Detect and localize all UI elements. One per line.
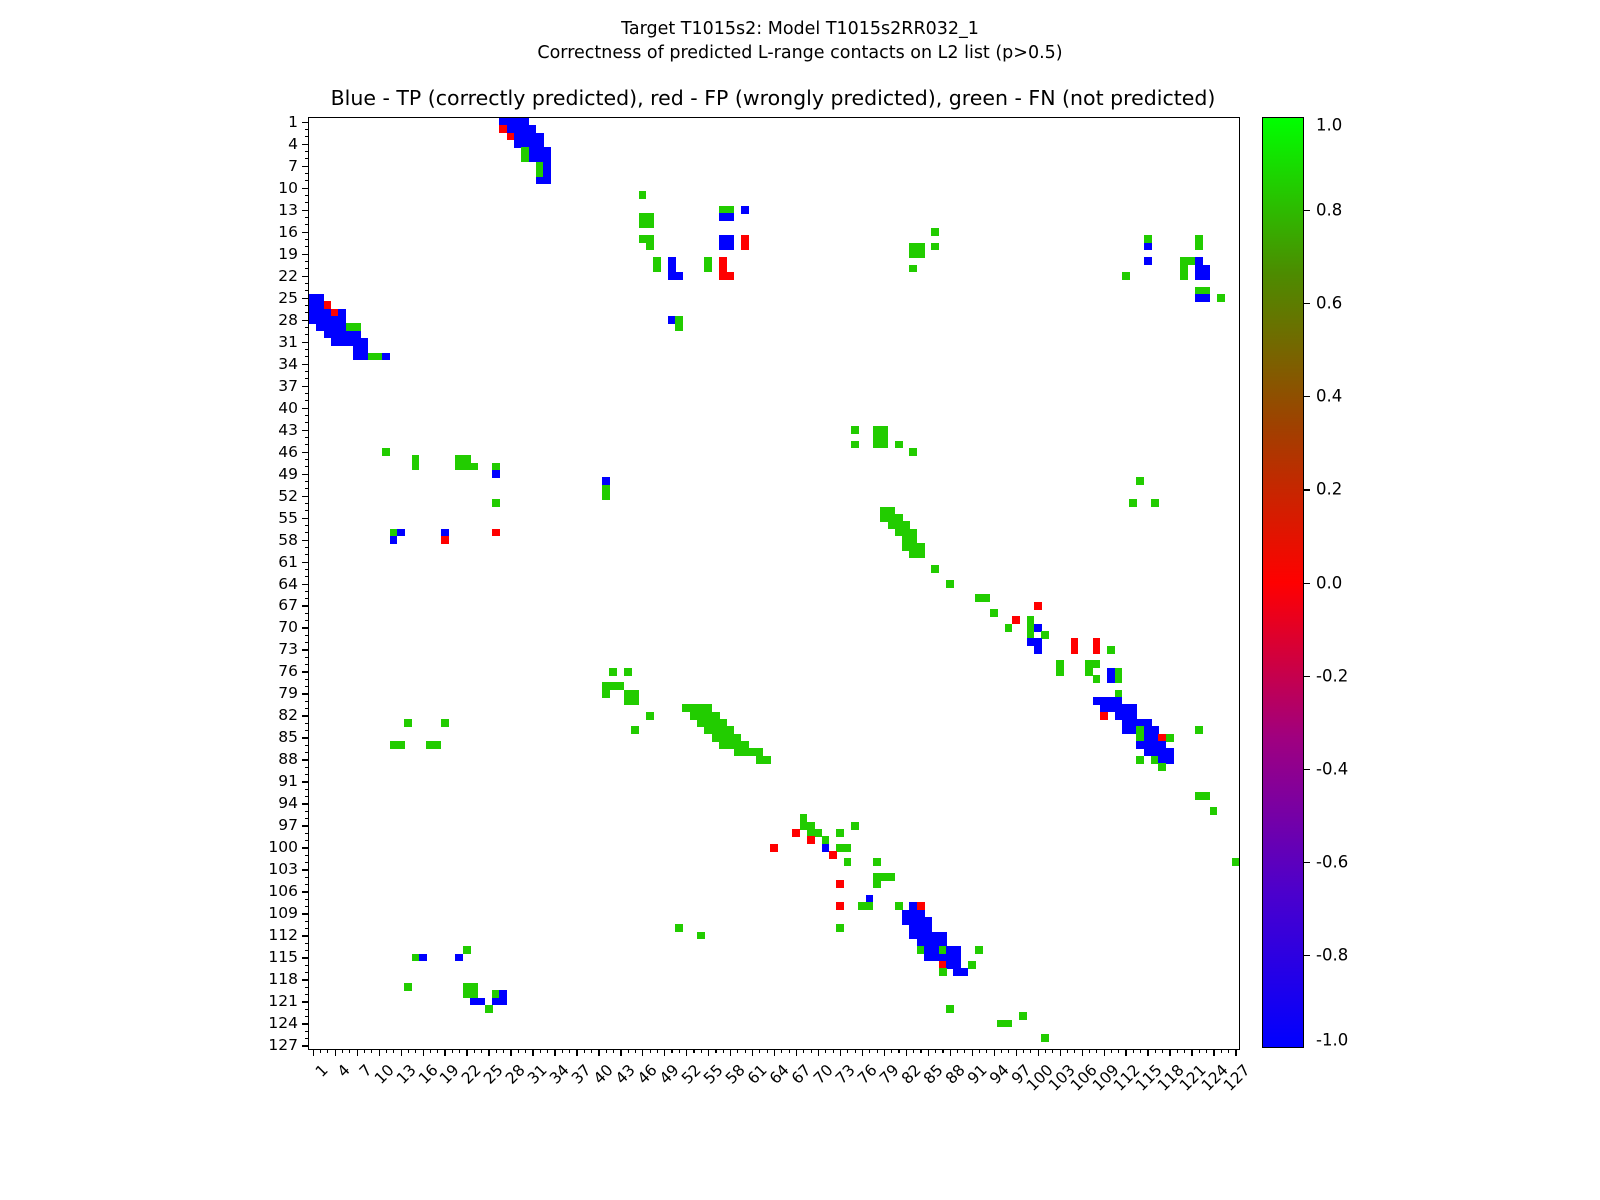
x-tick: [693, 1049, 694, 1053]
y-tick: [305, 899, 309, 900]
contact-cell-fn: [851, 822, 859, 830]
y-tick: [305, 840, 309, 841]
y-tick: [305, 547, 309, 548]
y-tick: [305, 767, 309, 768]
y-tick: [305, 510, 309, 511]
y-tick-label: 31: [278, 333, 298, 351]
y-tick-label: 10: [278, 179, 298, 197]
contact-map-figure: Target T1015s2: Model T1015s2RR032_1 Cor…: [0, 0, 1600, 1200]
y-tick-label: 118: [268, 970, 298, 988]
contact-cell-tp: [1034, 646, 1042, 654]
y-tick-label: 37: [278, 377, 298, 395]
y-tick-label: 46: [278, 443, 298, 461]
contact-cell-fp: [492, 529, 500, 537]
x-tick: [1074, 1049, 1075, 1053]
contact-cell-fn: [1041, 631, 1049, 639]
x-tick: [752, 1049, 753, 1056]
y-tick: [302, 430, 309, 431]
contact-cell-fn: [866, 902, 874, 910]
y-tick: [302, 166, 309, 167]
y-tick: [302, 715, 309, 716]
x-tick: [650, 1049, 651, 1053]
colorbar-tick: [1304, 210, 1310, 211]
x-tick: [1140, 1049, 1141, 1053]
contact-cell-fn: [463, 946, 471, 954]
y-tick-label: 88: [278, 750, 298, 768]
y-tick: [305, 488, 309, 489]
contact-cell-fp: [1093, 646, 1101, 654]
y-tick: [305, 789, 309, 790]
y-tick-label: 76: [278, 662, 298, 680]
x-tick: [730, 1049, 731, 1056]
x-tick-label: 7: [356, 1061, 376, 1081]
contact-cell-tp: [1144, 257, 1152, 265]
contact-cell-fn: [851, 441, 859, 449]
contact-cell-fn: [844, 844, 852, 852]
colorbar-tick-label: 0.8: [1316, 201, 1342, 220]
x-tick: [957, 1049, 958, 1053]
contact-cell-fn: [646, 221, 654, 229]
y-tick: [305, 862, 309, 863]
y-tick: [305, 906, 309, 907]
contact-cell-fn: [917, 551, 925, 559]
y-tick: [305, 943, 309, 944]
x-tick: [950, 1049, 951, 1056]
x-tick: [1155, 1049, 1156, 1053]
y-tick: [302, 298, 309, 299]
y-tick: [302, 605, 309, 606]
contact-cell-tp: [741, 206, 749, 214]
y-tick: [305, 246, 309, 247]
contact-cell-fn: [646, 712, 654, 720]
x-tick: [386, 1049, 387, 1053]
y-tick: [302, 1045, 309, 1046]
x-tick: [444, 1049, 445, 1056]
y-tick: [302, 891, 309, 892]
y-tick: [305, 1038, 309, 1039]
y-tick: [305, 261, 309, 262]
y-tick: [305, 158, 309, 159]
y-tick: [302, 671, 309, 672]
contact-cell-fn: [1093, 660, 1101, 668]
y-tick-label: 85: [278, 728, 298, 746]
y-tick: [302, 759, 309, 760]
contact-cell-fn: [873, 880, 881, 888]
y-tick: [305, 195, 309, 196]
figure-title: Target T1015s2: Model T1015s2RR032_1 Cor…: [0, 18, 1600, 65]
x-tick: [503, 1049, 504, 1053]
x-tick: [569, 1049, 570, 1053]
y-tick: [302, 320, 309, 321]
contact-cell-tp: [1202, 272, 1210, 280]
x-tick: [496, 1049, 497, 1053]
x-tick: [488, 1049, 489, 1056]
contact-cell-fp: [441, 536, 449, 544]
y-tick: [302, 144, 309, 145]
y-tick: [305, 855, 309, 856]
x-tick: [979, 1049, 980, 1053]
contact-cell-fn: [888, 873, 896, 881]
contact-cell-fp: [1034, 602, 1042, 610]
y-tick: [302, 649, 309, 650]
y-tick: [302, 210, 309, 211]
x-tick: [898, 1049, 899, 1053]
x-tick: [1118, 1049, 1119, 1053]
colorbar-tick: [1304, 955, 1310, 956]
x-tick: [942, 1049, 943, 1053]
y-tick-label: 109: [268, 904, 298, 922]
x-tick: [935, 1049, 936, 1053]
y-tick: [305, 1009, 309, 1010]
x-tick: [986, 1049, 987, 1053]
x-tick: [789, 1049, 790, 1053]
contact-cell-fn: [1195, 243, 1203, 251]
x-tick: [972, 1049, 973, 1056]
y-tick-label: 121: [268, 992, 298, 1010]
x-tick: [327, 1049, 328, 1053]
contact-cell-tp: [382, 353, 390, 361]
y-tick-label: 1: [288, 113, 298, 131]
x-tick: [540, 1049, 541, 1053]
x-tick: [371, 1049, 372, 1053]
y-tick: [305, 173, 309, 174]
contact-cell-tp: [1166, 756, 1174, 764]
y-tick: [302, 935, 309, 936]
y-tick: [302, 518, 309, 519]
colorbar-tick-label: -0.4: [1316, 759, 1348, 778]
y-tick: [302, 342, 309, 343]
contact-cell-fn: [492, 499, 500, 507]
y-tick: [305, 136, 309, 137]
x-tick: [481, 1049, 482, 1053]
colorbar-tick-label: 0.0: [1316, 573, 1342, 592]
y-tick: [302, 364, 309, 365]
contact-cell-fp: [829, 851, 837, 859]
y-tick: [302, 562, 309, 563]
x-tick: [818, 1049, 819, 1056]
colorbar-tick: [1304, 489, 1310, 490]
x-tick: [840, 1049, 841, 1056]
contact-cell-tp: [543, 177, 551, 185]
y-tick-label: 115: [268, 948, 298, 966]
contact-cell-fn: [397, 741, 405, 749]
y-tick-label: 16: [278, 223, 298, 241]
contact-cell-fn: [382, 448, 390, 456]
contact-cell-fp: [807, 836, 815, 844]
contact-cell-tp: [726, 243, 734, 251]
y-tick-label: 127: [268, 1036, 298, 1054]
y-tick-label: 124: [268, 1014, 298, 1032]
contact-cell-fn: [609, 668, 617, 676]
x-tick: [811, 1049, 812, 1053]
y-tick-label: 22: [278, 267, 298, 285]
x-tick: [1111, 1049, 1112, 1053]
colorbar-tick: [1304, 769, 1310, 770]
y-tick: [305, 576, 309, 577]
x-tick: [1067, 1049, 1068, 1053]
x-tick: [1008, 1049, 1009, 1053]
x-tick: [1052, 1049, 1053, 1053]
contact-cell-fn: [1232, 858, 1239, 866]
contact-cell-fn: [1136, 477, 1144, 485]
y-tick-label: 43: [278, 421, 298, 439]
contact-cell-fn: [1019, 1012, 1027, 1020]
y-tick: [305, 591, 309, 592]
y-tick: [302, 496, 309, 497]
y-tick-label: 55: [278, 509, 298, 527]
x-tick: [745, 1049, 746, 1053]
x-tick: [562, 1049, 563, 1053]
x-tick-label: 127: [1220, 1061, 1254, 1095]
y-tick-label: 19: [278, 245, 298, 263]
y-tick: [302, 540, 309, 541]
y-tick: [305, 994, 309, 995]
contact-cell-fn: [1202, 792, 1210, 800]
y-tick: [305, 503, 309, 504]
x-tick: [1213, 1049, 1214, 1056]
x-tick: [913, 1049, 914, 1053]
y-tick-label: 100: [268, 838, 298, 856]
contact-map-grid: [309, 118, 1239, 1049]
contact-cell-fn: [697, 932, 705, 940]
x-tick: [862, 1049, 863, 1056]
contact-cell-fn: [404, 719, 412, 727]
x-tick: [357, 1049, 358, 1056]
x-tick: [1104, 1049, 1105, 1056]
x-tick: [686, 1049, 687, 1056]
y-tick: [305, 796, 309, 797]
y-tick: [305, 459, 309, 460]
contact-cell-fn: [1005, 624, 1013, 632]
y-tick: [305, 466, 309, 467]
x-tick: [855, 1049, 856, 1053]
y-tick: [305, 290, 309, 291]
y-tick: [305, 642, 309, 643]
y-tick: [305, 444, 309, 445]
y-tick: [305, 224, 309, 225]
y-tick: [305, 928, 309, 929]
x-tick: [349, 1049, 350, 1053]
x-tick: [1016, 1049, 1017, 1056]
y-tick: [305, 664, 309, 665]
contact-cell-fn: [470, 463, 478, 471]
x-tick: [1001, 1049, 1002, 1053]
x-tick: [423, 1049, 424, 1056]
contact-cell-fn: [1056, 668, 1064, 676]
colorbar-tick-label: 1.0: [1316, 116, 1342, 135]
x-tick: [657, 1049, 658, 1053]
contact-cell-fn: [441, 719, 449, 727]
x-tick: [877, 1049, 878, 1053]
contact-cell-tp: [499, 998, 507, 1006]
x-tick: [781, 1049, 782, 1053]
x-tick: [613, 1049, 614, 1053]
y-tick: [305, 950, 309, 951]
x-tick: [628, 1049, 629, 1053]
contact-cell-tp: [726, 213, 734, 221]
contact-cell-fn: [939, 968, 947, 976]
x-tick: [342, 1049, 343, 1053]
y-tick: [305, 283, 309, 284]
x-tick: [1023, 1049, 1024, 1053]
x-tick-label: 1: [312, 1061, 332, 1081]
contact-cell-fn: [880, 441, 888, 449]
x-tick: [767, 1049, 768, 1053]
contact-cell-fn: [931, 565, 939, 573]
x-tick: [437, 1049, 438, 1053]
x-tick: [1169, 1049, 1170, 1056]
y-tick: [302, 847, 309, 848]
contact-cell-fp: [741, 243, 749, 251]
contact-cell-fn: [983, 594, 991, 602]
y-tick: [305, 400, 309, 401]
figure-title-line-2: Correctness of predicted L-range contact…: [0, 42, 1600, 66]
x-tick: [1228, 1049, 1229, 1053]
contact-cell-fn: [836, 924, 844, 932]
x-tick: [393, 1049, 394, 1053]
x-tick: [964, 1049, 965, 1053]
x-tick-label: 4: [334, 1061, 354, 1081]
y-tick: [302, 232, 309, 233]
y-tick-label: 103: [268, 860, 298, 878]
x-tick: [906, 1049, 907, 1056]
contact-cell-fn: [1158, 763, 1166, 771]
x-tick: [547, 1049, 548, 1053]
x-tick: [576, 1049, 577, 1056]
y-tick: [305, 268, 309, 269]
x-tick: [1045, 1049, 1046, 1053]
y-tick: [302, 584, 309, 585]
contact-cell-fn: [624, 668, 632, 676]
y-tick: [305, 202, 309, 203]
y-tick: [305, 393, 309, 394]
contact-cell-fp: [1071, 646, 1079, 654]
x-tick: [1162, 1049, 1163, 1053]
y-tick: [305, 327, 309, 328]
y-tick: [305, 217, 309, 218]
y-tick: [305, 635, 309, 636]
colorbar-tick-label: -0.2: [1316, 666, 1348, 685]
y-tick-label: 40: [278, 399, 298, 417]
contact-cell-tp: [390, 536, 398, 544]
contact-cell-tp: [419, 954, 427, 962]
y-tick: [305, 554, 309, 555]
y-tick: [302, 781, 309, 782]
contact-cell-fn: [1210, 807, 1218, 815]
contact-cell-fp: [726, 272, 734, 280]
y-tick: [302, 979, 309, 980]
y-tick: [305, 745, 309, 746]
y-tick-label: 70: [278, 618, 298, 636]
x-tick: [1184, 1049, 1185, 1053]
contact-cell-fn: [946, 1005, 954, 1013]
y-tick-label: 79: [278, 684, 298, 702]
x-tick: [1177, 1049, 1178, 1053]
contact-cell-tp: [397, 529, 405, 537]
x-tick: [379, 1049, 380, 1056]
y-tick-label: 97: [278, 816, 298, 834]
contact-cell-fn: [844, 858, 852, 866]
y-tick: [305, 378, 309, 379]
contact-cell-fn: [433, 741, 441, 749]
contact-cell-fn: [631, 726, 639, 734]
x-tick: [1096, 1049, 1097, 1053]
x-tick: [532, 1049, 533, 1056]
contact-cell-fn: [1122, 272, 1130, 280]
x-tick: [796, 1049, 797, 1056]
contact-cell-fn: [404, 983, 412, 991]
contact-cell-tp: [455, 954, 463, 962]
x-tick: [928, 1049, 929, 1056]
y-tick: [305, 752, 309, 753]
colorbar-tick: [1304, 583, 1310, 584]
x-tick: [708, 1049, 709, 1056]
y-tick: [302, 1001, 309, 1002]
x-tick: [833, 1049, 834, 1053]
x-tick: [759, 1049, 760, 1053]
y-tick: [302, 122, 309, 123]
y-tick: [305, 437, 309, 438]
contact-cell-fn: [763, 756, 771, 764]
y-tick: [305, 723, 309, 724]
y-tick: [305, 532, 309, 533]
y-tick: [305, 818, 309, 819]
x-tick: [408, 1049, 409, 1053]
y-tick: [305, 708, 309, 709]
x-tick: [1221, 1049, 1222, 1053]
contact-cell-fn: [1195, 726, 1203, 734]
contact-cell-fn: [1107, 646, 1115, 654]
contact-cell-fn: [602, 690, 610, 698]
y-tick-label: 28: [278, 311, 298, 329]
x-tick: [1147, 1049, 1148, 1056]
y-tick-label: 25: [278, 289, 298, 307]
contact-map-axes[interactable]: 1144771010131316161919222225252828313134…: [308, 117, 1240, 1050]
x-tick: [466, 1049, 467, 1056]
y-tick: [305, 305, 309, 306]
y-tick: [305, 774, 309, 775]
x-tick: [825, 1049, 826, 1053]
y-tick: [305, 701, 309, 702]
contact-cell-fn: [1093, 675, 1101, 683]
y-tick-label: 73: [278, 640, 298, 658]
y-tick: [305, 239, 309, 240]
contact-cell-fn: [704, 265, 712, 273]
y-tick: [305, 730, 309, 731]
x-tick: [1235, 1049, 1236, 1056]
x-tick: [1191, 1049, 1192, 1056]
x-tick: [606, 1049, 607, 1053]
x-tick: [1060, 1049, 1061, 1056]
contact-cell-tp: [1144, 243, 1152, 251]
contact-cell-fn: [1136, 756, 1144, 764]
x-tick: [1206, 1049, 1207, 1053]
colorbar-tick-label: -0.6: [1316, 852, 1348, 871]
y-tick: [305, 598, 309, 599]
contact-cell-fn: [675, 323, 683, 331]
y-tick-label: 112: [268, 926, 298, 944]
x-tick: [1125, 1049, 1126, 1056]
x-tick: [1030, 1049, 1031, 1053]
x-tick: [671, 1049, 672, 1053]
x-tick: [701, 1049, 702, 1053]
y-tick: [302, 1023, 309, 1024]
y-tick: [302, 913, 309, 914]
y-tick: [302, 957, 309, 958]
y-tick: [305, 921, 309, 922]
colorbar: 1.00.80.60.40.20.0-0.2-0.4-0.6-0.8-1.0: [1262, 117, 1304, 1048]
contact-cell-fn: [1151, 499, 1159, 507]
